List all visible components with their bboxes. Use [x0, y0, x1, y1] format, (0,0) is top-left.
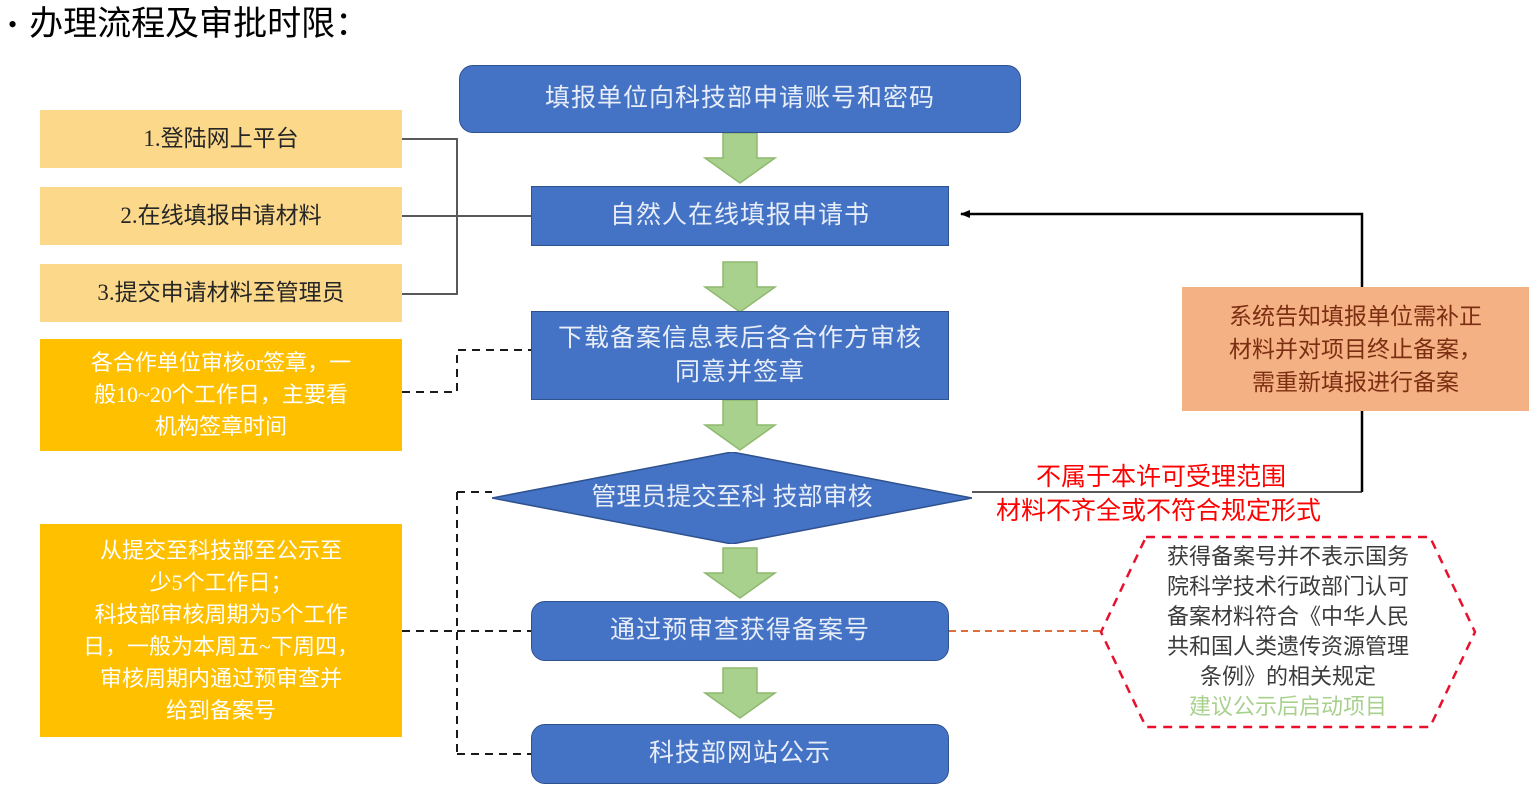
node-person-fill[interactable]: 自然人在线填报申请书	[531, 186, 949, 246]
connector-steps-to-person-fill	[402, 139, 531, 294]
bullet-icon: •	[8, 2, 17, 48]
step-box-submit-admin-label: 3.提交申请材料至管理员	[97, 278, 344, 308]
node-person-fill-label: 自然人在线填报申请书	[610, 199, 870, 233]
node-download-sign[interactable]: 下载备案信息表后各合作方审核 同意并签章	[531, 311, 949, 400]
note-timeline[interactable]: 从提交至科技部至公示至 少5个工作日； 科技部审核周期为5个工作 日，一般为本周…	[40, 524, 402, 737]
step-box-online-fill[interactable]: 2.在线填报申请材料	[40, 187, 402, 245]
flowchart-slide: • 办理流程及审批时限：	[0, 0, 1539, 787]
note-partner-review[interactable]: 各合作单位审核or签章，一 般10~20个工作日，主要看 机构签章时间	[40, 339, 402, 451]
note-partner-review-label: 各合作单位审核or签章，一 般10~20个工作日，主要看 机构签章时间	[91, 347, 351, 443]
node-admin-submit[interactable]: 管理员提交至科 技部审核	[492, 452, 972, 544]
node-publicity-label: 科技部网站公示	[649, 737, 831, 771]
node-apply-account[interactable]: 填报单位向科技部申请账号和密码	[459, 65, 1021, 133]
connector-partner-note-to-download	[402, 350, 531, 392]
arrow-apply-to-person	[705, 133, 775, 183]
diamond-shape	[492, 452, 972, 544]
note-reject[interactable]: 系统告知填报单位需补正 材料并对项目终止备案， 需重新填报进行备案	[1182, 287, 1529, 411]
note-disclaimer-body: 获得备案号并不表示国务 院科学技术行政部门认可 备案材料符合《中华人民 共和国人…	[1167, 542, 1409, 692]
node-get-record-no[interactable]: 通过预审查获得备案号	[531, 601, 949, 661]
step-box-login-label: 1.登陆网上平台	[143, 124, 298, 154]
arrow-person-to-download	[705, 262, 775, 312]
page-title: • 办理流程及审批时限：	[8, 2, 369, 48]
note-reject-label: 系统告知填报单位需补正 材料并对项目终止备案， 需重新填报进行备案	[1229, 300, 1482, 399]
page-title-text: 办理流程及审批时限：	[29, 2, 369, 48]
note-disclaimer-highlight: 建议公示后启动项目	[1167, 692, 1409, 722]
step-box-login[interactable]: 1.登陆网上平台	[40, 110, 402, 168]
note-timeline-label: 从提交至科技部至公示至 少5个工作日； 科技部审核周期为5个工作 日，一般为本周…	[83, 535, 359, 727]
red-note-incomplete-materials: 材料不齐全或不符合规定形式	[996, 496, 1321, 527]
arrow-recordno-to-publicity	[705, 668, 775, 718]
note-disclaimer[interactable]: 获得备案号并不表示国务 院科学技术行政部门认可 备案材料符合《中华人民 共和国人…	[1098, 534, 1478, 730]
step-box-online-fill-label: 2.在线填报申请材料	[120, 201, 321, 231]
node-apply-account-label: 填报单位向科技部申请账号和密码	[545, 82, 935, 116]
node-download-sign-label: 下载备案信息表后各合作方审核 同意并签章	[558, 322, 922, 390]
step-box-submit-admin[interactable]: 3.提交申请材料至管理员	[40, 264, 402, 322]
node-get-record-no-label: 通过预审查获得备案号	[610, 614, 870, 648]
arrow-download-to-diamond	[705, 400, 775, 450]
note-disclaimer-text: 获得备案号并不表示国务 院科学技术行政部门认可 备案材料符合《中华人民 共和国人…	[1142, 542, 1434, 722]
node-publicity[interactable]: 科技部网站公示	[531, 724, 949, 784]
red-note-out-of-scope: 不属于本许可受理范围	[1036, 462, 1286, 493]
arrow-diamond-to-recordno	[705, 548, 775, 598]
